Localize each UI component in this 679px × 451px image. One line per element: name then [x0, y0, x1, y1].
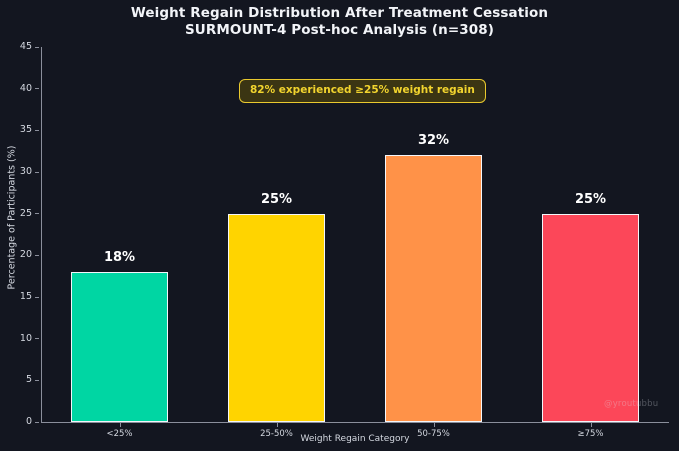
- y-axis-tick-mark: [35, 338, 39, 339]
- bar-value-label: 25%: [197, 192, 357, 207]
- chart-subtitle: SURMOUNT-4 Post-hoc Analysis (n=308): [0, 22, 679, 39]
- x-axis-tick-mark: [434, 423, 435, 427]
- y-axis-tick-label: 35: [20, 124, 32, 136]
- y-axis-tick-label: 20: [20, 249, 32, 261]
- plot-area: [41, 47, 669, 422]
- annotation-callout: 82% experienced ≥25% weight regain: [239, 79, 486, 103]
- y-axis-tick-label: 25: [20, 208, 32, 220]
- bar-value-label: 25%: [511, 192, 671, 207]
- y-axis-tick-label: 30: [20, 166, 32, 178]
- y-axis-tick-label: 10: [20, 333, 32, 345]
- y-axis-tick-mark: [35, 47, 39, 48]
- y-axis-tick-label: 40: [20, 83, 32, 95]
- x-axis-tick-mark: [277, 423, 278, 427]
- x-axis-tick: 25-50%: [217, 423, 337, 440]
- y-axis-tick-mark: [35, 213, 39, 214]
- x-axis-tick-label: 25-50%: [217, 429, 337, 440]
- x-axis-tick: 50-75%: [374, 423, 494, 440]
- y-axis-title: Percentage of Participants (%): [7, 118, 18, 318]
- y-axis-tick-mark: [35, 130, 39, 131]
- x-axis-tick-label: <25%: [60, 429, 180, 440]
- y-axis-tick-mark: [35, 255, 39, 256]
- bar[interactable]: [385, 155, 482, 422]
- chart-figure: Weight Regain Distribution After Treatme…: [0, 0, 679, 451]
- y-axis-tick-mark: [35, 380, 39, 381]
- x-axis-tick-mark: [591, 423, 592, 427]
- y-axis-tick-label: 45: [20, 41, 32, 53]
- y-axis-tick-mark: [35, 172, 39, 173]
- watermark: @yroutubbu: [604, 399, 658, 409]
- x-axis-tick: <25%: [60, 423, 180, 440]
- bar-value-label: 32%: [354, 133, 514, 148]
- y-axis-tick-mark: [35, 88, 39, 89]
- y-axis-tick-mark: [35, 422, 39, 423]
- bar[interactable]: [71, 272, 168, 422]
- y-axis-tick-label: 0: [26, 416, 32, 428]
- y-axis-tick-label: 15: [20, 291, 32, 303]
- bar-value-label: 18%: [40, 250, 200, 265]
- chart-title: Weight Regain Distribution After Treatme…: [0, 5, 679, 38]
- x-axis-tick-mark: [120, 423, 121, 427]
- y-axis-tick-label: 5: [26, 374, 32, 386]
- bar[interactable]: [542, 214, 639, 422]
- chart-title-line-1: Weight Regain Distribution After Treatme…: [0, 5, 679, 22]
- x-axis-tick: ≥75%: [531, 423, 651, 440]
- x-axis-tick-label: ≥75%: [531, 429, 651, 440]
- x-axis-tick-label: 50-75%: [374, 429, 494, 440]
- y-axis-tick-mark: [35, 297, 39, 298]
- bar[interactable]: [228, 214, 325, 422]
